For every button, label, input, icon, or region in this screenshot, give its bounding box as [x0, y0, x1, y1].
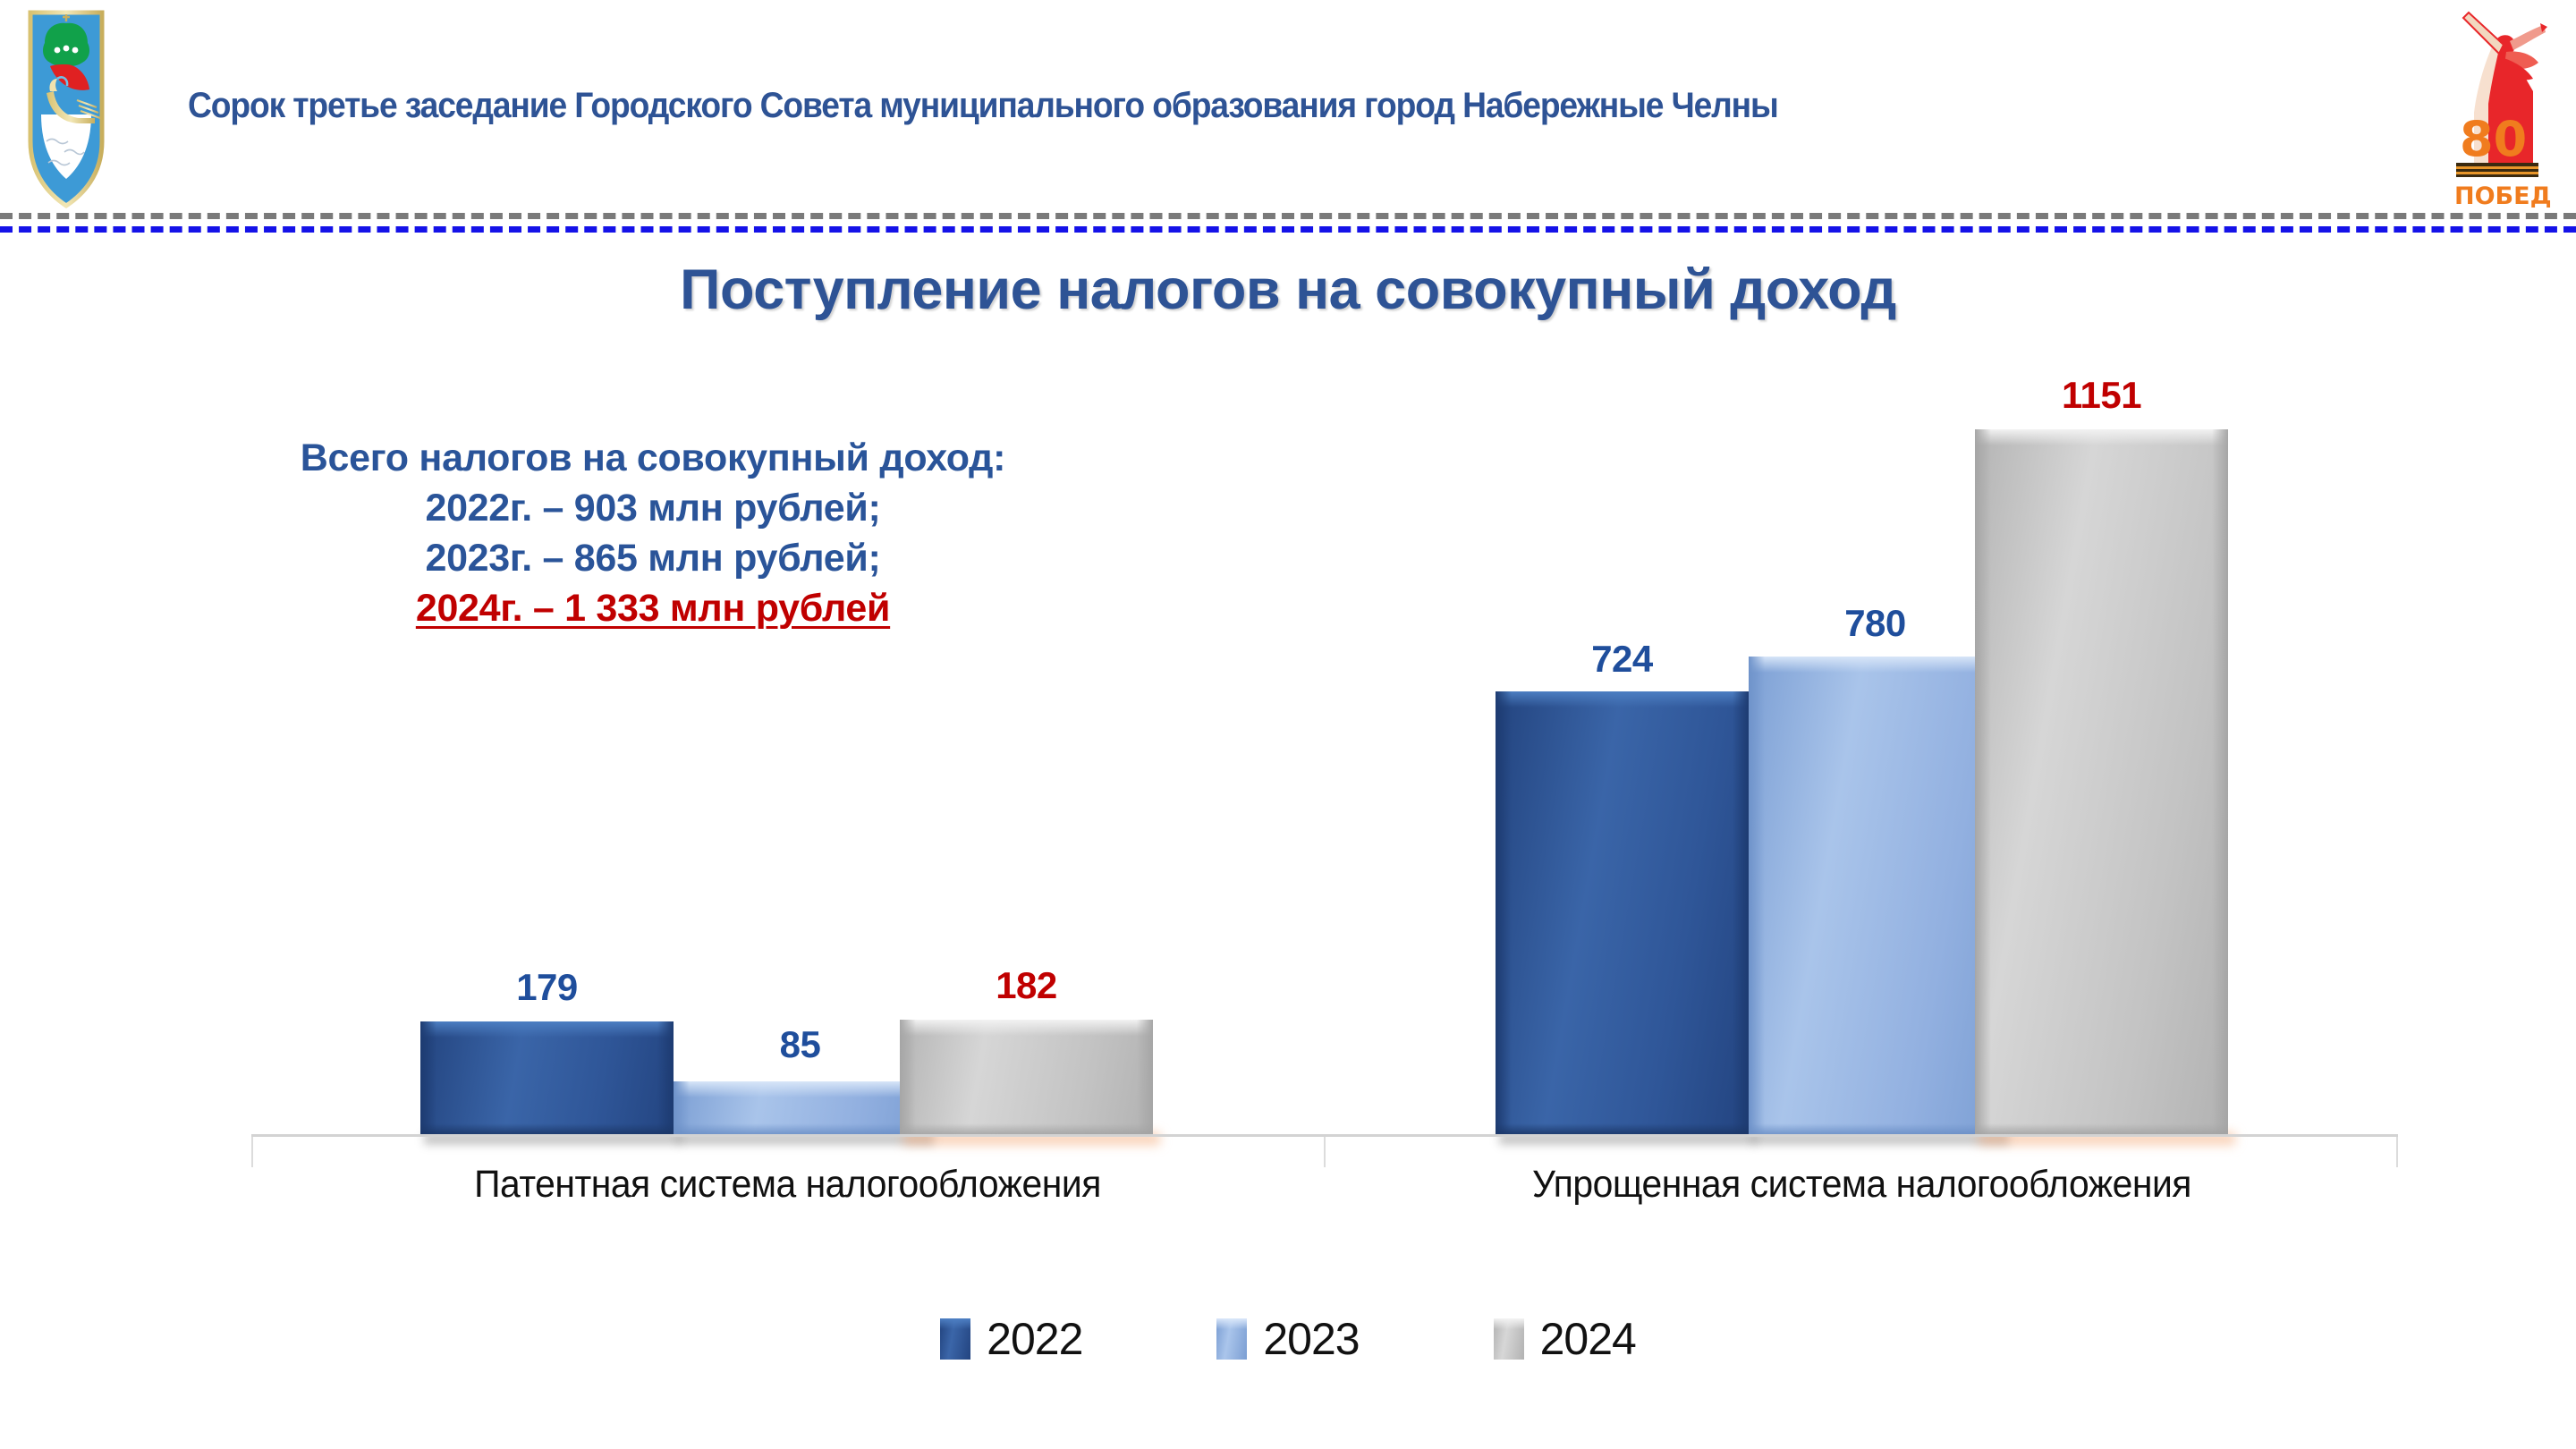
category-label-patent: Патентная система налогообложения	[278, 1163, 1297, 1207]
bar-2024-patent[interactable]	[900, 1020, 1153, 1136]
bar-label-2024-patent: 182	[900, 964, 1153, 1007]
chart-plot-area: 179 85 182 724 780 1151 Патентная систем…	[0, 358, 2576, 1136]
svg-text:ПОБЕДА!: ПОБЕДА!	[2454, 182, 2551, 210]
bar-label-2022-simplified: 724	[1496, 638, 1749, 681]
axis-tick-left	[251, 1137, 253, 1167]
bar-2023-patent[interactable]	[674, 1081, 927, 1136]
page-title: Поступление налогов на совокупный доход	[0, 258, 2576, 322]
bar-label-2024-simplified: 1151	[1975, 374, 2228, 417]
legend-item-2024[interactable]: 2024	[1494, 1313, 1636, 1365]
bar-2024-simplified[interactable]	[1975, 429, 2228, 1136]
legend-label-2022: 2022	[987, 1313, 1082, 1365]
bar-label-2023-patent: 85	[674, 1023, 927, 1066]
bar-label-2023-simplified: 780	[1749, 602, 2002, 645]
legend-label-2024: 2024	[1540, 1313, 1636, 1365]
legend-swatch-2022-icon	[940, 1318, 970, 1360]
header-divider-gray	[0, 213, 2576, 219]
svg-text:80: 80	[2460, 111, 2527, 167]
bar-2023-simplified[interactable]	[1749, 657, 2002, 1136]
legend-item-2023[interactable]: 2023	[1216, 1313, 1359, 1365]
bar-label-2022-patent: 179	[420, 966, 674, 1009]
axis-tick-right	[2396, 1137, 2398, 1167]
legend-swatch-2023-icon	[1216, 1318, 1247, 1360]
legend-swatch-2024-icon	[1494, 1318, 1524, 1360]
bar-2022-patent[interactable]	[420, 1021, 674, 1136]
victory-80-logo-icon: 80 ПОБЕДА!	[2447, 5, 2551, 213]
axis-tick-middle	[1324, 1137, 1326, 1167]
legend-item-2022[interactable]: 2022	[940, 1313, 1082, 1365]
category-label-simplified: Упрощенная система налогообложения	[1352, 1163, 2371, 1207]
header-divider-blue	[0, 226, 2576, 233]
coat-of-arms-icon	[25, 7, 107, 211]
header-title: Сорок третье заседание Городского Совета…	[188, 86, 1835, 125]
bar-chart: 179 85 182 724 780 1151 Патентная систем…	[0, 358, 2576, 1181]
slide-header: Сорок третье заседание Городского Совета…	[0, 0, 2576, 222]
bar-2022-simplified[interactable]	[1496, 691, 1749, 1136]
legend-label-2023: 2023	[1263, 1313, 1359, 1365]
chart-legend: 2022 2023 2024	[0, 1313, 2576, 1365]
